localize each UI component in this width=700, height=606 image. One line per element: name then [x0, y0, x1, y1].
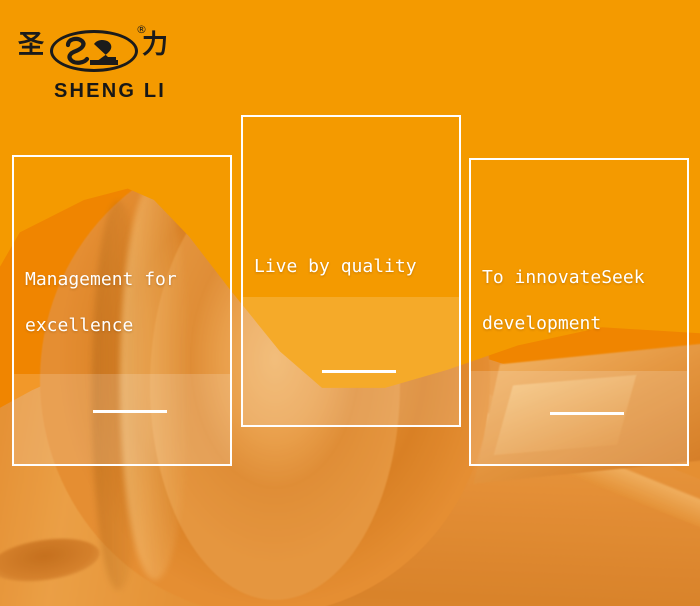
- card-bottom-band: [243, 297, 459, 425]
- logo-cjk-sheng: 圣: [18, 32, 44, 58]
- slogan-divider: [550, 412, 624, 415]
- card-bottom-band: [471, 371, 687, 464]
- card-bottom-band: [14, 374, 230, 464]
- slogan-text: Live by quality: [254, 244, 453, 290]
- slogan-divider: [322, 370, 396, 373]
- logo-mark: 圣 ® 力: [18, 24, 178, 80]
- slogan-card-management: Management for excellence: [12, 155, 232, 466]
- logo-cjk-li: 力: [142, 32, 168, 58]
- slogan-card-innovation: To innovateSeek development: [469, 158, 689, 466]
- logo-monogram-icon: [64, 36, 126, 66]
- slogan-text: To innovateSeek development: [482, 255, 681, 347]
- slogan-text: Management for excellence: [25, 257, 224, 349]
- slogan-divider: [93, 410, 167, 413]
- brand-name: SHENG LI: [54, 80, 166, 103]
- slogan-card-quality: Live by quality: [241, 115, 461, 427]
- slogan-banner: 圣 ® 力 SHENG LI Management for excellence…: [0, 0, 700, 606]
- company-logo: 圣 ® 力 SHENG LI: [18, 24, 178, 112]
